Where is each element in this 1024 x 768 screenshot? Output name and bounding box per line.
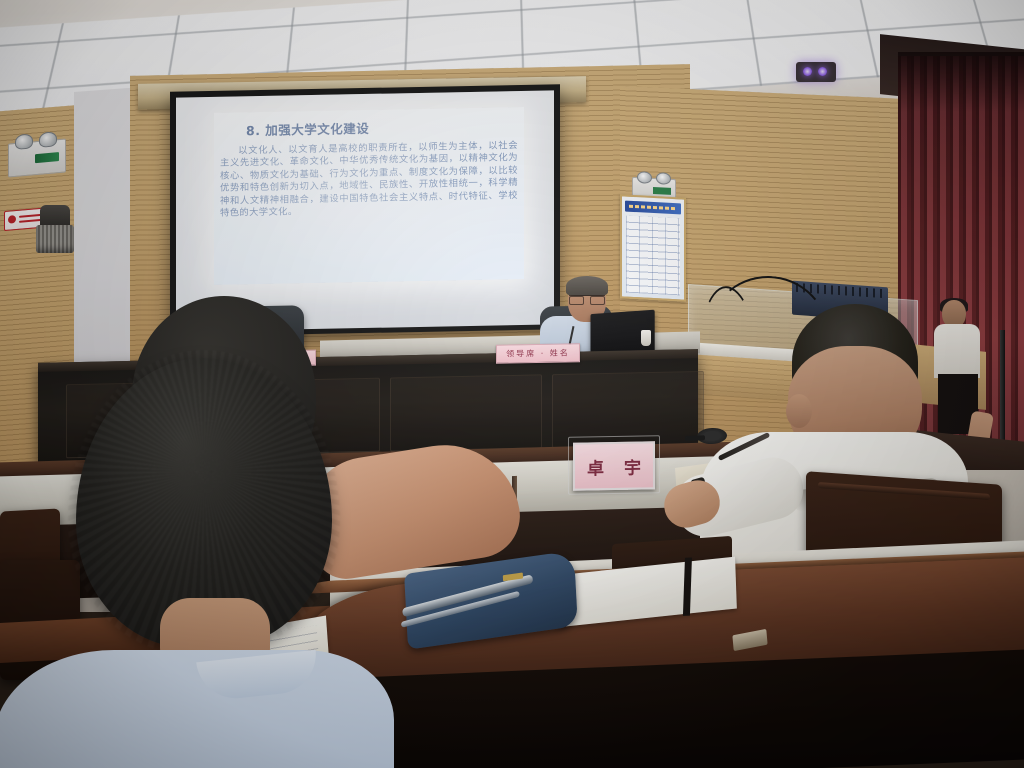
purple-spot-light-icon [796, 62, 836, 82]
wall-speaker-icon [36, 205, 74, 253]
slide-body: 以文化人、以文育人是高校的职责所在，以师生为主体，以社会主义先进文化、革命文化、… [220, 140, 518, 220]
eyeglasses-icon [569, 295, 605, 303]
nameplate-acrylic-holder [568, 435, 660, 495]
person-attendee-foreground [40, 312, 400, 768]
conference-room-photo: 8. 加强大学文化建设 以文化人、以文育人是高校的职责所在，以师生为主体，以社会… [0, 0, 1024, 768]
emergency-exit-light-icon [8, 138, 66, 177]
slide-title: 8. 加强大学文化建设 [220, 115, 518, 140]
nameplate-head-table-center: 领导席 · 姓名 [496, 343, 580, 363]
curtain-shadow [898, 52, 1024, 112]
water-cup [641, 330, 651, 346]
presentation-slide: 8. 加强大学文化建设 以文化人、以文育人是高校的职责所在，以师生为主体，以社会… [214, 107, 524, 285]
